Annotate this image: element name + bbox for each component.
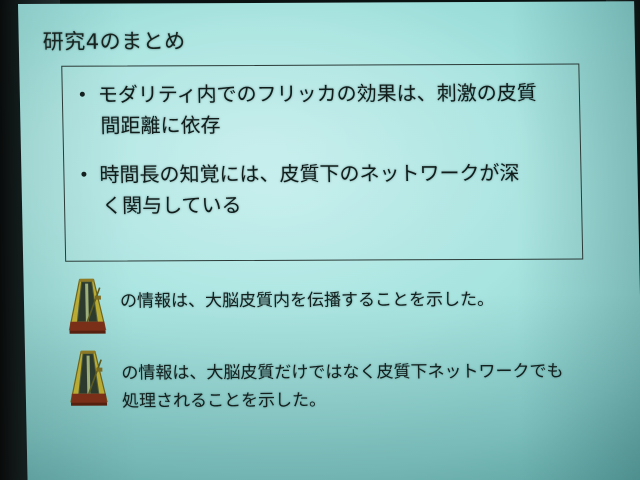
bullet-line-2: く関与している [102, 188, 591, 221]
projection-screen-wrapper: 研究4のまとめ モダリティ内でのフリッカの効果は、刺激の皮質 間距離に依存 時間… [18, 1, 640, 480]
bullet-line-1: 時間長の知覚には、皮質下のネットワークが深 [99, 161, 520, 187]
bullet-item: 時間長の知覚には、皮質下のネットワークが深 く関与している [79, 157, 590, 221]
note-row: の情報は、大脳皮質だけではなく皮質下ネットワークでも 処理されることを示した。 [65, 345, 606, 415]
slide-content: 研究4のまとめ モダリティ内でのフリッカの効果は、刺激の皮質 間距離に依存 時間… [18, 1, 640, 480]
bullet-dot-icon [80, 92, 85, 97]
bullet-item: モダリティ内でのフリッカの効果は、刺激の皮質 間距離に依存 [78, 78, 589, 142]
bullet-line-1: モダリティ内でのフリッカの効果は、刺激の皮質 [98, 81, 537, 107]
slide-title: 研究4のまとめ [42, 25, 185, 56]
metronome-icon [63, 276, 110, 338]
metronome-icon [65, 348, 112, 410]
bullet-dot-icon [81, 172, 86, 177]
bullet-list: モダリティ内でのフリッカの効果は、刺激の皮質 間距離に依存 時間長の知覚には、皮… [78, 78, 591, 240]
note-text: の情報は、大脳皮質内を伝播することを示した。 [119, 274, 494, 316]
bullet-line-2: 間距離に依存 [100, 108, 589, 141]
projected-slide-photo: 研究4のまとめ モダリティ内でのフリッカの効果は、刺激の皮質 間距離に依存 時間… [0, 0, 640, 480]
note-line-1: の情報は、大脳皮質内を伝播することを示した。 [120, 290, 494, 312]
note-text: の情報は、大脳皮質だけではなく皮質下ネットワークでも 処理されることを示した。 [121, 346, 564, 416]
note-line-1: の情報は、大脳皮質だけではなく皮質下ネットワークでも [121, 362, 563, 384]
note-line-2: 処理されることを示した。 [122, 386, 565, 416]
note-row: の情報は、大脳皮質内を伝播することを示した。 [63, 273, 604, 337]
